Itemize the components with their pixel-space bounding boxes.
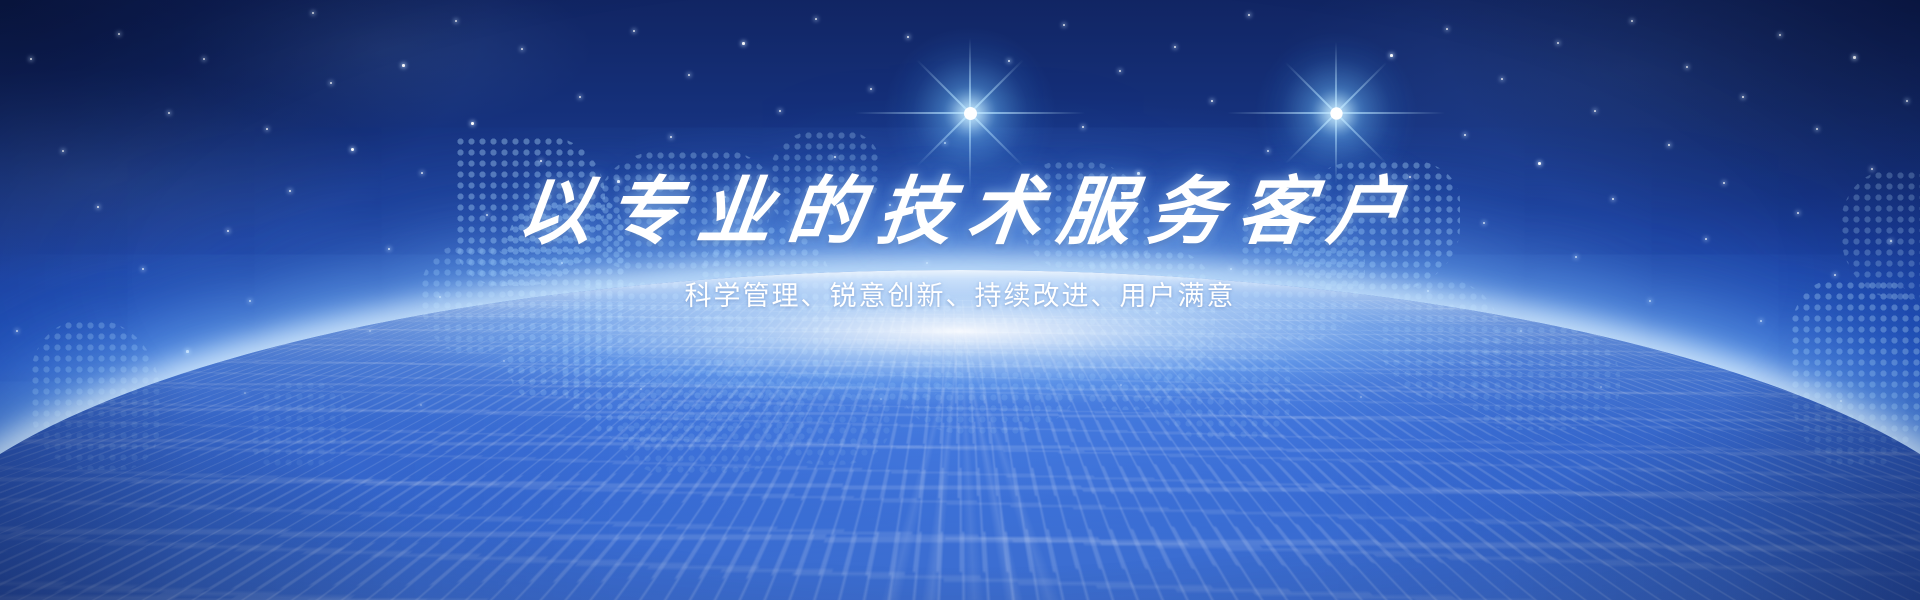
star-dot <box>1742 96 1744 98</box>
star-dot <box>471 122 474 125</box>
star-dot <box>579 96 581 98</box>
star-dot <box>30 58 32 60</box>
star-dot <box>1779 34 1781 36</box>
star-dot <box>907 36 909 38</box>
star-dot <box>1248 14 1250 16</box>
star-dot <box>118 33 120 35</box>
star-dot <box>779 110 781 112</box>
star-dot <box>203 58 205 60</box>
aerial-city-grid <box>0 270 1920 600</box>
star-dot <box>521 48 523 50</box>
star-dot <box>330 82 332 84</box>
star-dot <box>1631 20 1633 22</box>
banner-headline: 以专业的技术服务客户 <box>0 176 1920 250</box>
hero-banner: 以专业的技术服务客户 科学管理、锐意创新、持续改进、用户满意 <box>0 0 1920 600</box>
star-dot <box>633 30 635 32</box>
star-dot <box>688 74 690 76</box>
star-dot <box>1853 56 1856 59</box>
star-dot <box>402 64 405 67</box>
star-dot <box>742 42 745 45</box>
earth-horizon <box>0 270 1920 600</box>
star-dot <box>1594 110 1596 112</box>
star-dot <box>1446 28 1448 30</box>
star-dot <box>455 20 457 22</box>
star-dot <box>1906 100 1908 102</box>
star-dot <box>312 12 314 14</box>
star-dot <box>1557 42 1559 44</box>
star-dot <box>815 18 817 20</box>
star-dot <box>870 88 872 90</box>
star-dot <box>1686 66 1688 68</box>
star-dot <box>1501 78 1503 80</box>
star-dot <box>1174 46 1176 48</box>
star-dot <box>1008 60 1010 62</box>
star-dot <box>1063 24 1065 26</box>
star-dot <box>1211 100 1213 102</box>
star-dot <box>1119 70 1121 72</box>
star-dot <box>168 112 170 114</box>
star-dot <box>1082 126 1084 128</box>
banner-subheadline: 科学管理、锐意创新、持续改进、用户满意 <box>0 280 1920 312</box>
banner-copy: 以专业的技术服务客户 科学管理、锐意创新、持续改进、用户满意 <box>0 176 1920 312</box>
star-dot <box>1390 54 1393 57</box>
